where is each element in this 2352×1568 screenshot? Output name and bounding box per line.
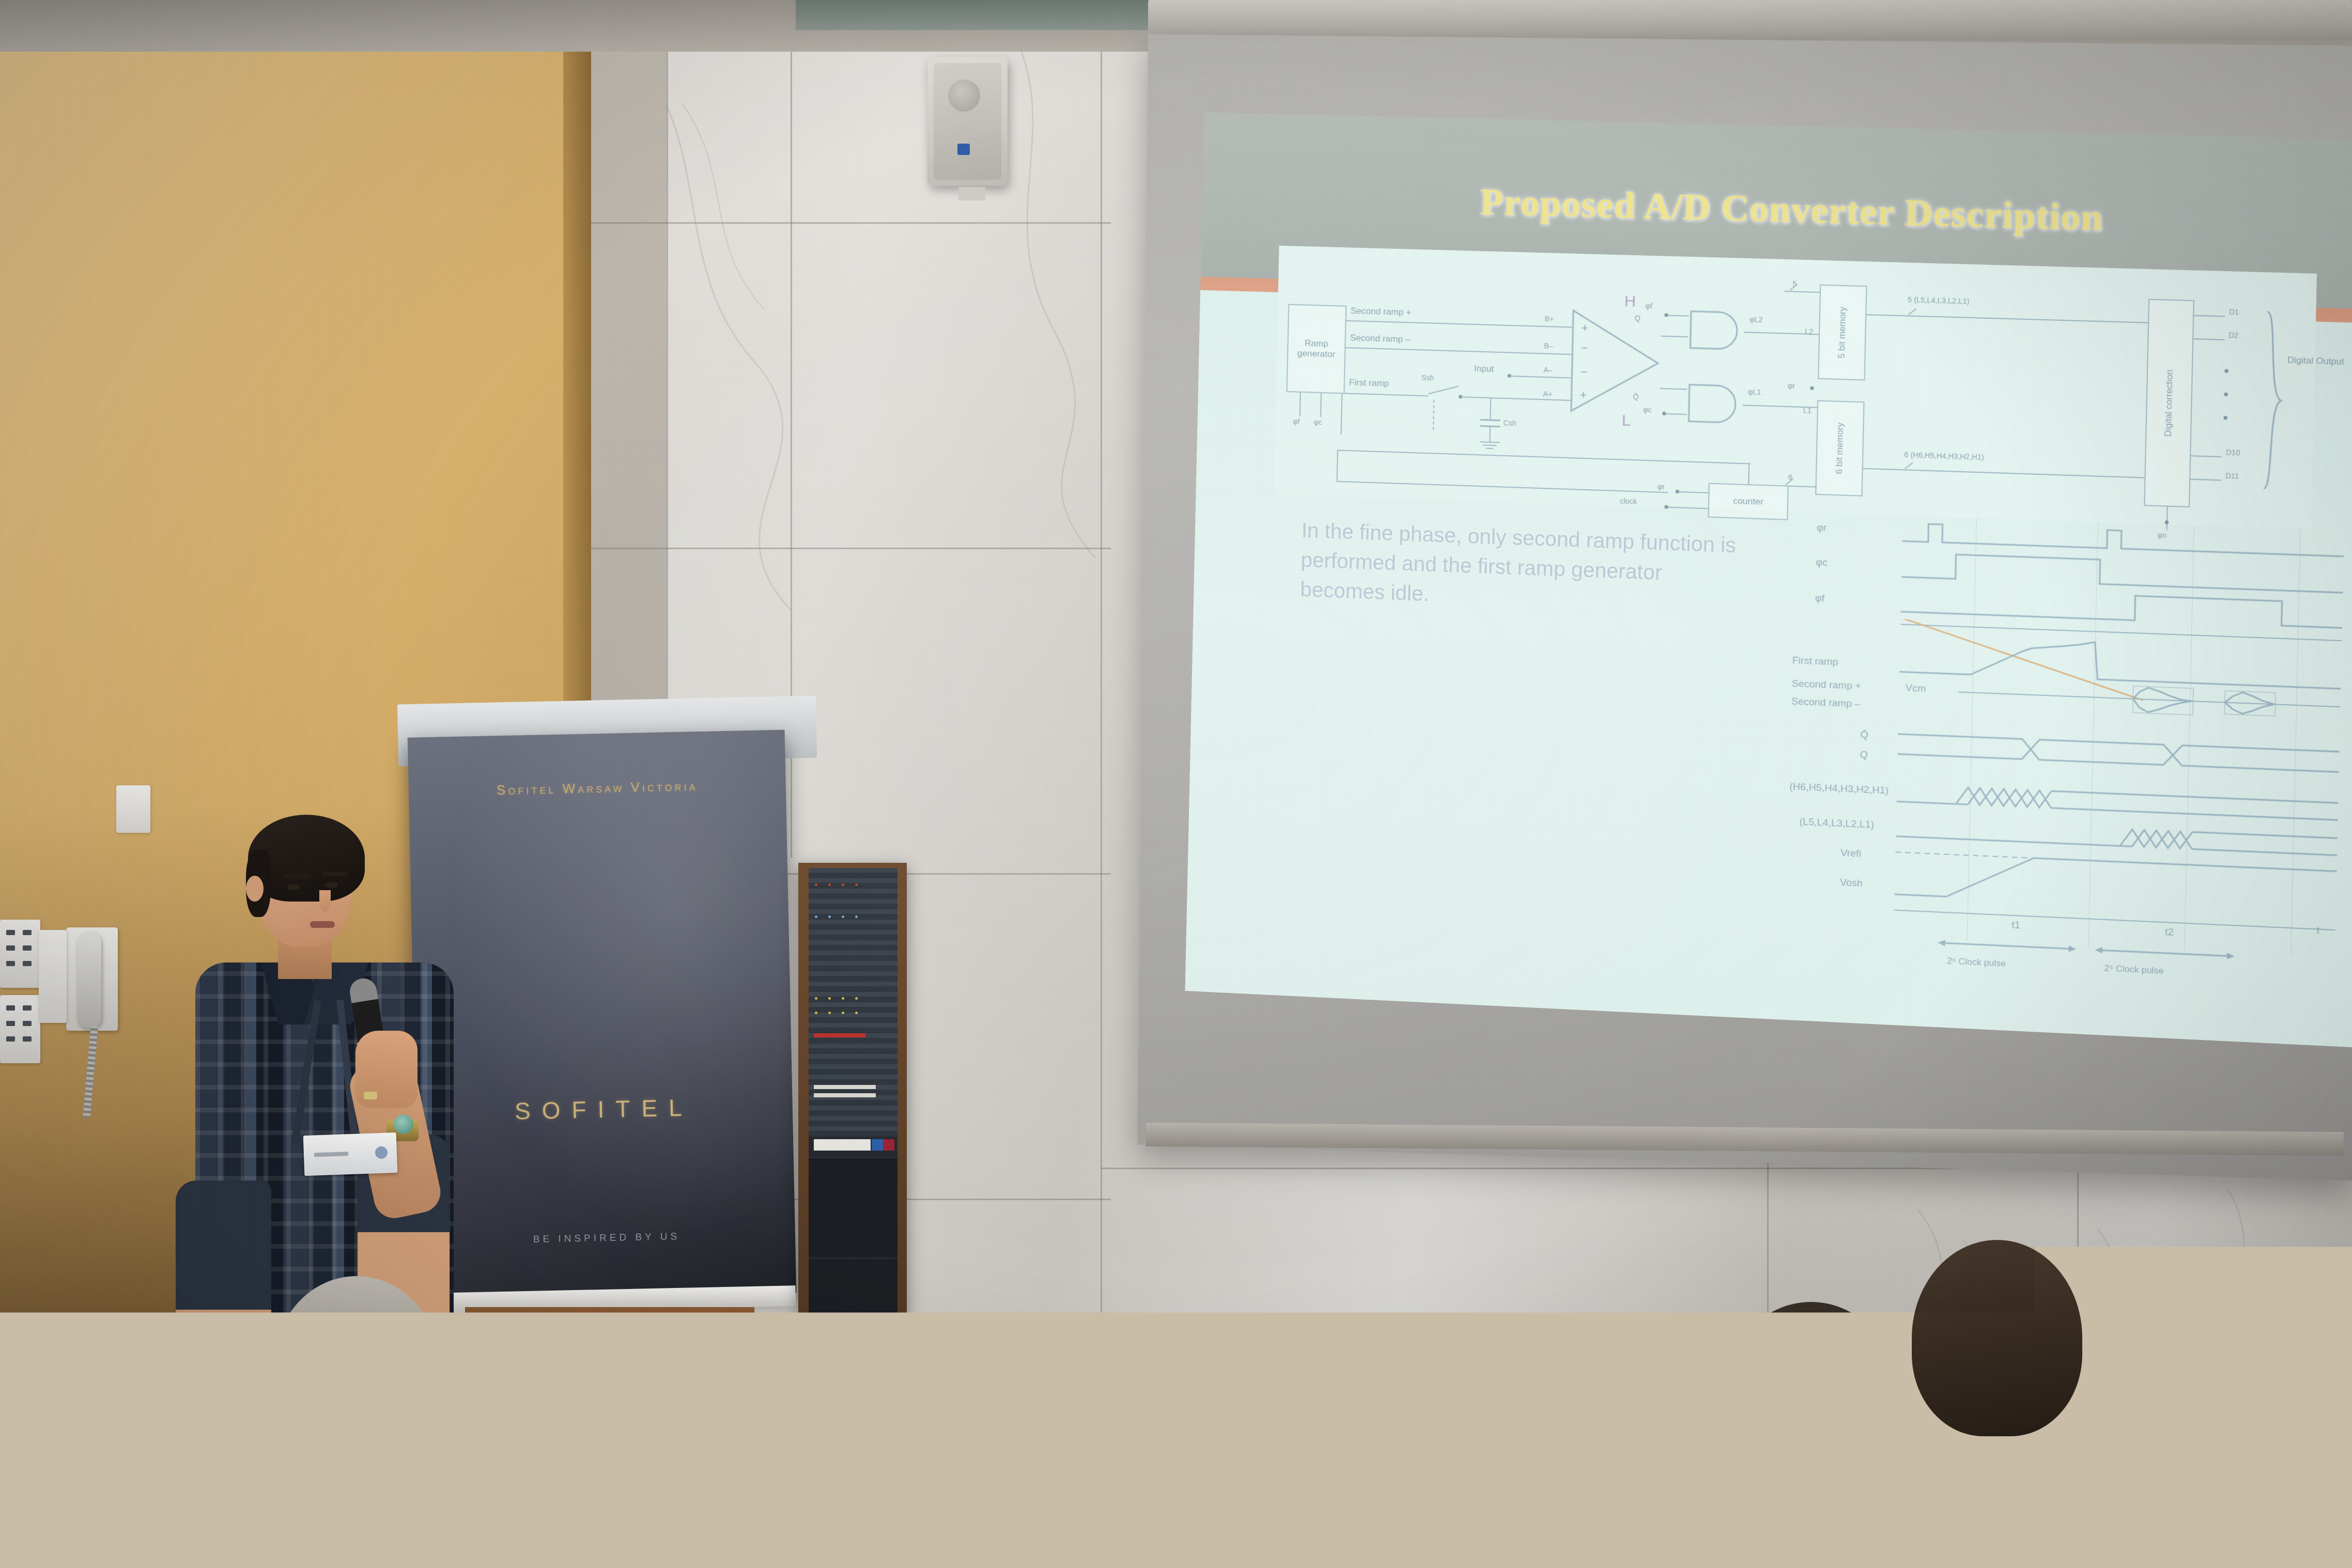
cap-label-csh: Csh [1503, 418, 1517, 427]
memory-input-L1: L1 [1803, 406, 1812, 415]
timing-label-first-ramp: First ramp [1792, 655, 1838, 669]
block-5bit-memory: 5 bit memory [1818, 285, 1867, 381]
rack-unit-amplifier[interactable] [809, 1258, 898, 1351]
slide-body-text: In the fine phase, only second ramp func… [1300, 516, 1744, 621]
svg-text:+: + [1581, 321, 1588, 335]
block-label-ramp-generator: Ramp generator [1288, 338, 1345, 360]
av-rack [798, 863, 907, 1405]
phone-handset[interactable] [78, 933, 101, 1028]
timing-diagram: φr φc φf [1785, 512, 2350, 1011]
projector-table [1051, 1514, 1413, 1568]
output-d1: D1 [2229, 307, 2239, 316]
projector-power-led [1128, 1485, 1133, 1489]
speaker-woofer-icon [948, 80, 980, 112]
phone-side-plate [39, 930, 67, 1023]
interval-caption-t1: 2⁶ Clock pulse [1947, 956, 2006, 969]
signal-input: Input [1474, 364, 1494, 375]
ff-output-q: Q [1634, 314, 1641, 323]
ff-output-qbar: Q̄ [1633, 392, 1639, 401]
speaker-brand-badge [957, 144, 970, 155]
timing-label-qbar: Q̄ [1860, 729, 1868, 741]
timing-label-h-bus: (H6,H5,H4,H3,H2,H1) [1789, 781, 1889, 797]
pin-label-b-plus: B+ [1544, 315, 1554, 323]
svg-text:−: − [1581, 365, 1588, 379]
output-d10: D10 [2226, 448, 2240, 457]
projector-status-led-3 [1226, 1485, 1231, 1489]
timing-label-second-ramp-plus: Second ramp + [1792, 678, 1862, 693]
wristwatch-face [394, 1114, 413, 1134]
finger-ring [364, 1092, 377, 1099]
phase-label-phiL1: φL1 [1748, 387, 1761, 396]
output-d2: D2 [2229, 331, 2238, 339]
bus-label-low: 5 (L5,L4,L3,L2,L1) [1908, 296, 1970, 306]
and-gate-upper [1687, 309, 1746, 351]
svg-text:+: + [1580, 388, 1587, 401]
timing-axis-label-t: t [2316, 925, 2319, 937]
interval-label-t2: t2 [2165, 926, 2174, 938]
pin-label-a-plus: A+ [1543, 390, 1552, 398]
switch-label-ssh: Ssh [1421, 374, 1434, 382]
presenter-ear [246, 876, 264, 902]
block-label-counter: counter [1733, 496, 1763, 507]
wall-speaker [927, 57, 1008, 186]
digital-output-label: Digital Output [2287, 354, 2337, 368]
projector-status-led-4 [1242, 1485, 1246, 1489]
timing-label-q: Q [1860, 749, 1868, 761]
comparator-symbol: + − − + [1569, 308, 1662, 416]
presenter-eyebrow-right [321, 872, 348, 876]
interval-caption-t2: 2⁵ Clock pulse [2104, 963, 2164, 976]
presenter-arm-left [176, 1181, 271, 1423]
block-6bit-memory: 6 bit memory [1815, 400, 1864, 496]
phase-label-phic-left: φc [1313, 418, 1322, 427]
phase-label-phiL2: φL2 [1750, 315, 1763, 324]
comparator-output-h-label: H [1624, 292, 1636, 311]
timing-label-vrefi: Vrefi [1840, 848, 1861, 860]
block-label-digital-correction: Digital correction [2163, 369, 2175, 437]
audience-shoulders-7-checked-shirt [1839, 1416, 2160, 1568]
phase-label-phir-counter: φr [1658, 482, 1665, 491]
timing-label-vosh: Vosh [1840, 877, 1863, 890]
speaker-bracket [958, 187, 985, 200]
screen-housing [1148, 0, 2352, 40]
pin-label-b-minus: B– [1544, 341, 1553, 350]
photograph-scene: Proposed A/D Converter Description Ramp … [0, 0, 2352, 1568]
timing-label-l-bus: (L5,L4,L3,L2,L1) [1799, 816, 1874, 831]
block-label-6bit-memory: 6 bit memory [1834, 422, 1846, 474]
projector [1103, 1431, 1359, 1522]
conference-name-badge [303, 1132, 398, 1176]
badge-logo-icon [375, 1146, 388, 1159]
phase-label-phir-memory: φr [1788, 381, 1796, 390]
phase-label-phic-gate: φc [1643, 405, 1652, 414]
presenter-eye-left [287, 884, 300, 890]
block-digital-correction: Digital correction [2144, 299, 2194, 507]
and-gate-lower [1685, 382, 1745, 425]
signal-first-ramp: First ramp [1349, 377, 1389, 389]
projection-screen-assembly: Proposed A/D Converter Description Ramp … [1106, 0, 2352, 1152]
wall-switch[interactable] [116, 785, 150, 833]
pin-label-a-minus: A– [1543, 366, 1553, 375]
slide-body: Ramp generator φf φc Second ramp + Secon… [1185, 290, 2352, 1048]
light-switch-panel-lower[interactable] [0, 995, 40, 1063]
clock-input-label: clock [1620, 496, 1637, 505]
timing-label-phir: φr [1817, 522, 1827, 534]
interval-label-t1: t1 [2011, 920, 2020, 932]
projection-screen-surface: Proposed A/D Converter Description Ramp … [1137, 34, 2352, 1181]
projector-cable [1188, 1509, 1195, 1568]
projector-lens-housing [1327, 1462, 1363, 1512]
projector-top-panel [1108, 1433, 1343, 1473]
badge-name-line [314, 1152, 348, 1157]
mixing-console[interactable] [809, 868, 898, 1137]
timing-label-phif: φf [1815, 593, 1825, 604]
output-brace-icon [2261, 309, 2286, 491]
light-switch-panel-upper[interactable] [0, 920, 40, 988]
bus-label-high: 6 (H6,H5,H4,H3,H2,H1) [1904, 451, 1984, 461]
block-label-5bit-memory: 5 bit memory [1837, 306, 1849, 359]
signal-second-ramp-minus: Second ramp – [1350, 333, 1411, 345]
presentation-slide: Proposed A/D Converter Description Ramp … [1185, 112, 2352, 1048]
presenter-mouth [310, 921, 335, 928]
svg-text:−: − [1581, 341, 1588, 354]
rack-unit-patchbay[interactable] [809, 1157, 898, 1255]
phase-label-phif-left: φf [1293, 417, 1299, 425]
presenter-eye-right [326, 882, 338, 888]
audience-head-7 [1912, 1240, 2082, 1436]
flipchart-wooden-stand [465, 1307, 754, 1369]
phase-label-phif-gate: φf [1646, 302, 1653, 311]
audience-head-8 [2191, 1385, 2352, 1568]
audience-head-2 [274, 1276, 439, 1457]
waveform-ramps [1898, 619, 2342, 742]
audience-head-3-bald [579, 1343, 744, 1519]
memory-input-L2: L2 [1805, 327, 1814, 336]
signal-second-ramp-plus: Second ramp + [1351, 306, 1412, 318]
timing-label-phic: φc [1816, 557, 1828, 569]
projector-status-led-2 [1153, 1485, 1157, 1489]
output-d11: D11 [2225, 471, 2239, 480]
comparator-output-l-label: L [1621, 412, 1631, 430]
block-counter: counter [1708, 483, 1788, 520]
block-diagram: Ramp generator φf φc Second ramp + Secon… [1274, 245, 2317, 530]
block-ramp-generator: Ramp generator [1287, 304, 1347, 394]
projector-status-led-1 [1140, 1485, 1145, 1489]
timing-label-second-ramp-minus: Second ramp – [1791, 696, 1861, 710]
presenter-eyebrow-left [284, 874, 311, 878]
presenter-nose [319, 890, 331, 912]
